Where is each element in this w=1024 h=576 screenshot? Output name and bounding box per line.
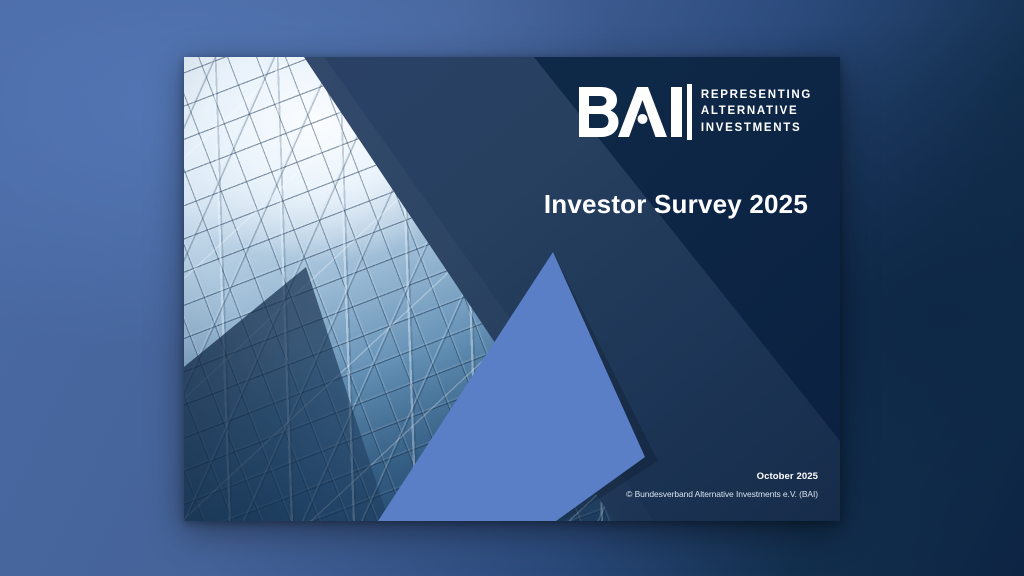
logo-divider xyxy=(687,84,692,140)
desktop-backdrop: REPRESENTING ALTERNATIVE INVESTMENTS Inv… xyxy=(0,0,1024,576)
logo-tagline-line-1: REPRESENTING xyxy=(701,90,812,102)
logo-tagline-line-2: ALTERNATIVE xyxy=(701,106,812,118)
slide-footer: October 2025 © Bundesverband Alternative… xyxy=(626,471,818,499)
slide-title: Investor Survey 2025 xyxy=(544,189,808,220)
logo-tagline-line-3: INVESTMENTS xyxy=(701,123,812,135)
logo-tagline: REPRESENTING ALTERNATIVE INVESTMENTS xyxy=(701,90,812,135)
footer-date: October 2025 xyxy=(626,471,818,482)
bai-wordmark-icon xyxy=(577,83,685,141)
footer-copyright: © Bundesverband Alternative Investments … xyxy=(626,489,818,499)
bai-logo: REPRESENTING ALTERNATIVE INVESTMENTS xyxy=(577,83,812,141)
presentation-slide: REPRESENTING ALTERNATIVE INVESTMENTS Inv… xyxy=(184,57,840,521)
